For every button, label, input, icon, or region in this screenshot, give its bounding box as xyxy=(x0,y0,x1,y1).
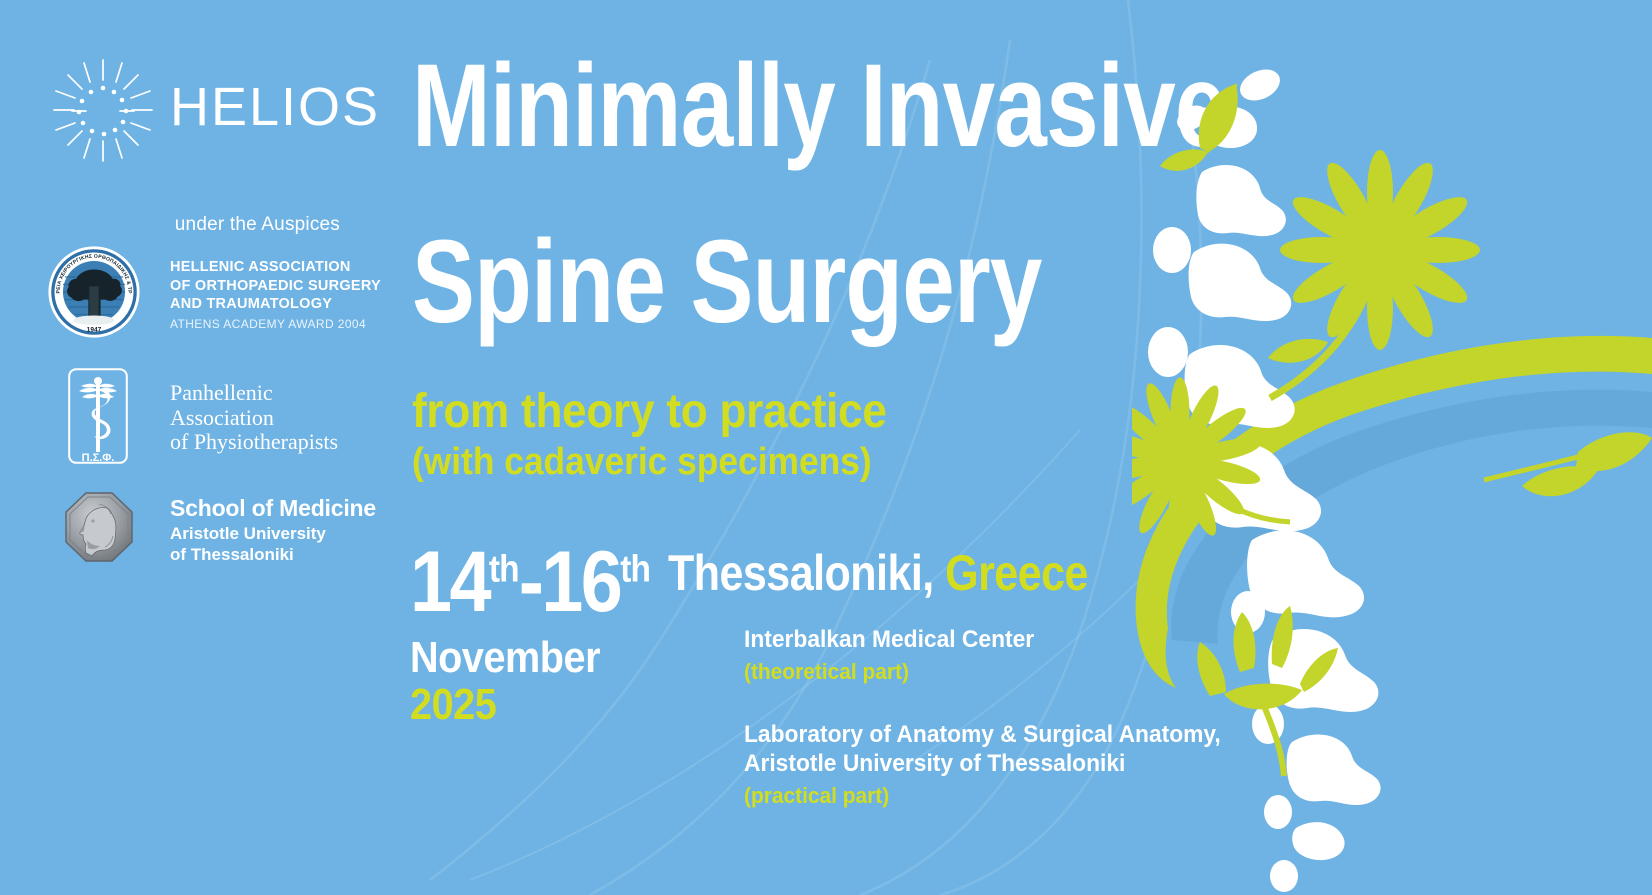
hellenic-association-seal-icon: 1947 ΕΛΛΗΝΙΚΗ ΕΤΑΙΡΕΙΑ ΧΕΙΡΟΥΡΓΙΚΗΣ ΟΡΘΟ… xyxy=(47,245,141,339)
venue-city: Thessaloniki, xyxy=(668,545,934,601)
tagline-sub: (with cadaveric specimens) xyxy=(412,443,872,481)
org-hellenic-line1: HELLENIC ASSOCIATION xyxy=(170,258,385,277)
event-month: November xyxy=(410,635,635,681)
org-hellenic-name: HELLENIC ASSOCIATION OF ORTHOPAEDIC SURG… xyxy=(170,258,385,332)
org-physio-line2: Association xyxy=(170,406,390,431)
date-day-end: 16 xyxy=(541,534,620,630)
event-year: 2025 xyxy=(410,682,635,728)
spine-flower-illustration xyxy=(1132,0,1652,895)
helios-logo: HELIOS xyxy=(48,58,358,163)
sunburst-icon xyxy=(48,58,158,163)
school-title: School of Medicine xyxy=(170,496,400,521)
school-sub-line1: Aristotle University xyxy=(170,524,400,545)
poster-title-line1: Minimally Invasive xyxy=(412,52,1227,162)
org-school-of-medicine-logo xyxy=(65,492,133,567)
auspices-label: under the Auspices xyxy=(0,214,340,236)
org-physio-line3: of Physiotherapists xyxy=(170,430,390,455)
venue-column: Thessaloniki, Greece Interbalkan Medical… xyxy=(668,548,1208,811)
venue-2-part: (practical part) xyxy=(744,782,1185,811)
venue-2-name-line2: Aristotle University of Thessaloniki xyxy=(744,750,1185,779)
venue-country: Greece xyxy=(945,545,1088,601)
sponsors-column: HELIOS under the Auspices xyxy=(0,0,400,895)
org-physiotherapists-logo: Π.Σ.Φ. xyxy=(68,368,128,469)
asclepius-rod-icon: Π.Σ.Φ. xyxy=(68,368,128,464)
venue-1-name: Interbalkan Medical Center xyxy=(744,626,1185,655)
physio-mark-text: Π.Σ.Φ. xyxy=(82,452,115,464)
date-day-start: 14 xyxy=(410,534,489,630)
org-hellenic-line2: OF ORTHOPAEDIC SURGERY xyxy=(170,277,385,296)
tagline-main: from theory to practice xyxy=(412,388,887,436)
poster-title-line2: Spine Surgery xyxy=(412,228,1042,338)
aristotle-medallion-icon xyxy=(65,492,133,562)
date-separator: - xyxy=(519,534,542,630)
helios-wordmark: HELIOS xyxy=(170,80,380,134)
org-physio-line1: Panhellenic xyxy=(170,381,390,406)
conference-poster: HELIOS under the Auspices xyxy=(0,0,1652,895)
event-date-range: 14th-16th xyxy=(410,544,630,621)
date-day-end-suffix: th xyxy=(620,548,650,590)
org-hellenic-line3: AND TRAUMATOLOGY xyxy=(170,295,385,314)
org-school-name: School of Medicine Aristotle University … xyxy=(170,496,400,566)
leaf-icon xyxy=(1484,432,1652,496)
school-sub-line2: of Thessaloniki xyxy=(170,545,400,566)
venue-2-name-line1: Laboratory of Anatomy & Surgical Anatomy… xyxy=(744,721,1185,750)
venue-city-line: Thessaloniki, Greece xyxy=(668,548,1132,598)
event-date-block: 14th-16th November 2025 xyxy=(410,544,660,728)
seal-year: 1947 xyxy=(87,326,102,333)
org-physiotherapists-name: Panhellenic Association of Physiotherapi… xyxy=(170,381,390,455)
leaf-icon xyxy=(1160,84,1238,171)
date-day-start-suffix: th xyxy=(489,548,519,590)
org-hellenic-seal: 1947 ΕΛΛΗΝΙΚΗ ΕΤΑΙΡΕΙΑ ΧΕΙΡΟΥΡΓΙΚΗΣ ΟΡΘΟ… xyxy=(47,245,141,344)
venue-1-part: (theoretical part) xyxy=(744,658,1185,687)
org-hellenic-award: ATHENS ACADEMY AWARD 2004 xyxy=(170,317,385,332)
